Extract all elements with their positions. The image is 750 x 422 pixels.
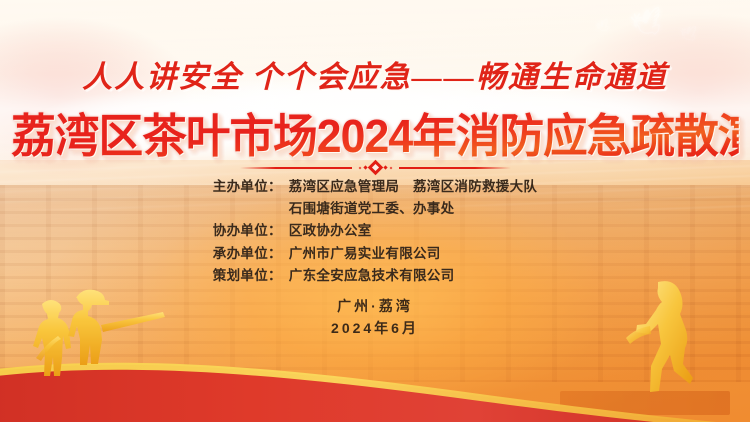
ornament-dot: [389, 166, 392, 169]
poster-content: 人人讲安全 个个会应急——畅通生命通道 荔湾区茶叶市场2024年消防应急疏散演练…: [0, 0, 750, 422]
divider-rule-left: [240, 167, 352, 169]
organizer-block: 主办单位： 荔湾区应急管理局 荔湾区消防救援大队 石围塘街道党工委、办事处 协办…: [0, 178, 750, 289]
organizer-value: 区政协办公室: [289, 222, 537, 244]
organizer-row: 石围塘街道党工委、办事处: [213, 200, 537, 222]
organizer-row: 协办单位： 区政协办公室: [213, 222, 537, 244]
diamond-ornament-icon: [352, 162, 399, 173]
slogan-line: 人人讲安全 个个会应急——畅通生命通道: [0, 52, 750, 96]
poster-canvas: 🕊 🕊 🕊: [0, 0, 750, 422]
place-text: 广州·荔湾: [0, 296, 750, 318]
page-title: 荔湾区茶叶市场2024年消防应急疏散演练: [11, 100, 739, 166]
organizer-label: 协办单位：: [213, 222, 289, 244]
organizer-table: 主办单位： 荔湾区应急管理局 荔湾区消防救援大队 石围塘街道党工委、办事处 协办…: [213, 178, 537, 289]
ornament-dot: [358, 166, 361, 169]
ornament-dot: [383, 165, 387, 169]
ornament-dot: [363, 165, 367, 169]
organizer-label: [213, 200, 289, 222]
divider-rule-right: [399, 167, 511, 169]
organizer-label: 主办单位：: [213, 178, 289, 200]
ornament-gem: [367, 160, 383, 176]
decorative-divider: [0, 162, 750, 173]
date-text: 2024年6月: [0, 318, 750, 340]
organizer-value: 石围塘街道党工委、办事处: [289, 200, 537, 222]
organizer-row: 策划单位： 广东全安应急技术有限公司: [213, 267, 537, 289]
organizer-value: 广州市广易实业有限公司: [289, 245, 537, 267]
organizer-value: 荔湾区应急管理局 荔湾区消防救援大队: [289, 178, 537, 200]
organizer-label: 承办单位：: [213, 245, 289, 267]
organizer-row: 承办单位： 广州市广易实业有限公司: [213, 245, 537, 267]
organizer-label: 策划单位：: [213, 267, 289, 289]
place-date-block: 广州·荔湾 2024年6月: [0, 296, 750, 339]
organizer-row: 主办单位： 荔湾区应急管理局 荔湾区消防救援大队: [213, 178, 537, 200]
organizer-value: 广东全安应急技术有限公司: [289, 267, 537, 289]
